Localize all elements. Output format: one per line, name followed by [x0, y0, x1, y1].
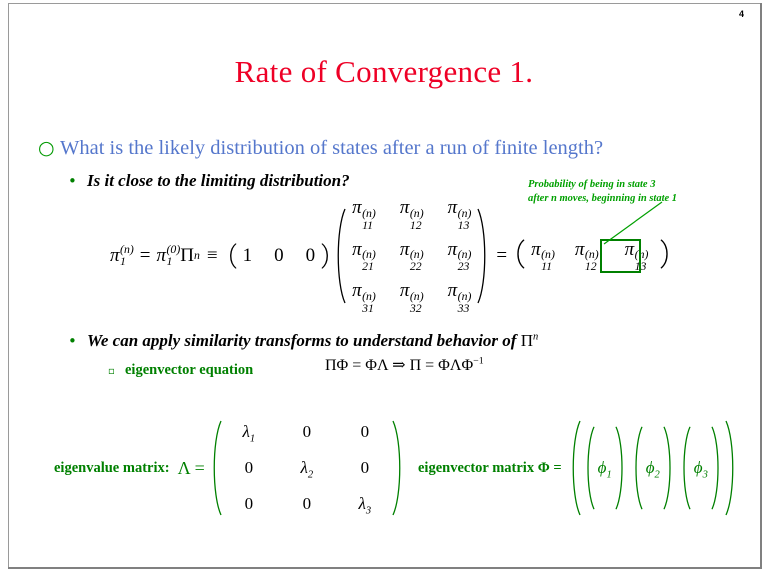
- similarity-equation-text: ΠΦ = ΦΛ ⇒ Π = ΦΛΦ: [325, 357, 473, 374]
- pi-lhs-indices: (n)1: [120, 244, 134, 268]
- paren-left-eigenvector-outer: [568, 420, 581, 516]
- paren-left-phi2: [630, 426, 643, 510]
- paren-left-phi3: [678, 426, 691, 510]
- bullet-level2-similarity-label: We can apply similarity transforms to un…: [87, 331, 538, 351]
- circle-outline-bullet-icon: ○: [38, 139, 60, 158]
- eigenvalue-cell: 0: [245, 494, 254, 514]
- paren-left-rowvec: [225, 243, 238, 269]
- pi-symbol: π: [110, 245, 120, 267]
- dot-bullet-icon: •: [68, 174, 87, 189]
- matrix-cell: π(n)32: [400, 280, 424, 315]
- result-row-vector: π(n)11 π(n)12 π(n)13: [513, 239, 672, 274]
- pi-symbol: π: [531, 239, 541, 260]
- eigenvector-matrix-label: eigenvector matrix Φ =: [418, 460, 562, 477]
- matrix-cell-indices: (n)22: [410, 249, 424, 273]
- pi-symbol: π: [352, 197, 362, 218]
- similarity-equation-exponent: −1: [473, 356, 484, 367]
- result-cell-indices: (n)12: [585, 249, 599, 273]
- paren-right-phi1: [615, 426, 628, 510]
- main-equation: π(n)1 = π(0)1Πn ≡ 1 0 0 π(n): [110, 208, 672, 304]
- similarity-text: We can apply similarity transforms to un…: [87, 331, 521, 350]
- matrix-cell-indices: (n)21: [362, 249, 376, 273]
- matrix-cell-indices: (n)11: [362, 208, 376, 232]
- pi-symbol: π: [400, 280, 410, 301]
- result-cell: π(n)11: [531, 239, 555, 274]
- slide-number: 4: [739, 9, 744, 19]
- equiv-sign: ≡: [200, 245, 225, 267]
- paren-right-eigenvector-outer: [725, 420, 738, 516]
- probability-annotation-line2: after n moves, beginning in state 1: [528, 192, 677, 206]
- probability-annotation-line1: Probability of being in state 3: [528, 178, 677, 192]
- bullet-level3-eigenvector-equation: ▫ eigenvector equation: [108, 362, 253, 379]
- bullet-level3-label: eigenvector equation: [125, 362, 253, 379]
- paren-right-rowvec: [320, 243, 333, 269]
- row-vector-initial-state: 1 0 0: [225, 243, 334, 269]
- result-cell-indices: (n)11: [541, 249, 555, 273]
- matrix-cell-indices: (n)31: [362, 291, 376, 315]
- row-vector-cell: 0: [274, 245, 284, 267]
- pi-symbol: π: [352, 280, 362, 301]
- paren-left-result: [513, 239, 526, 269]
- eigenvalue-cell: λ1: [243, 422, 256, 442]
- matrix-cell: π(n)22: [400, 239, 424, 274]
- highlight-box-pi13: [600, 239, 641, 273]
- matrix-cell: π(n)11: [352, 197, 376, 232]
- matrix-cell-indices: (n)32: [410, 291, 424, 315]
- pi-symbol: π: [400, 197, 410, 218]
- column-vector-phi2: ϕ2: [630, 426, 676, 510]
- eigenvector-column: ϕ2: [629, 420, 677, 516]
- matrix-cell: π(n)33: [448, 280, 472, 315]
- eigenvalue-cell: 0: [303, 422, 312, 442]
- eigenvalue-cell: 0: [245, 458, 254, 478]
- paren-right-eigenvalue: [392, 420, 405, 516]
- eigenvalue-matrix: λ1 0 0 0 λ2 0 0 0 λ3: [209, 420, 405, 516]
- pi-symbol: π: [448, 197, 458, 218]
- equals-sign-2: =: [490, 245, 513, 267]
- page-title: Rate of Convergence 1.: [0, 54, 768, 90]
- row-vector-cell: 1: [243, 245, 253, 267]
- bullet-level1-label: What is the likely distribution of state…: [60, 137, 603, 160]
- probability-annotation: Probability of being in state 3 after n …: [528, 178, 677, 206]
- eigenvalue-matrix-label: eigenvalue matrix:: [54, 460, 170, 477]
- column-vector-phi3: ϕ3: [678, 426, 724, 510]
- pi-lhs-sub: 1: [120, 256, 134, 268]
- paren-right-phi3: [711, 426, 724, 510]
- eigenvector-matrix-block: eigenvector matrix Φ = ϕ1: [418, 420, 738, 516]
- pi-term2-indices: (0)1: [167, 244, 181, 268]
- transition-matrix: π(n)11 π(n)12 π(n)13 π(n)21 π(n)22 π(n)2…: [333, 208, 490, 304]
- pi-symbol: π: [400, 239, 410, 260]
- pi-symbol: π: [448, 280, 458, 301]
- matrix-cell-indices: (n)23: [458, 249, 472, 273]
- paren-left-eigenvalue: [209, 420, 222, 516]
- eigenvalue-cell: 0: [361, 458, 370, 478]
- eigenvalue-cell: 0: [303, 494, 312, 514]
- bullet-level2-limiting: • Is it close to the limiting distributi…: [68, 171, 350, 191]
- phi-cell: ϕ1: [595, 458, 615, 478]
- eigenvalue-cell: λ3: [359, 494, 372, 514]
- capital-pi-symbol: Π: [521, 331, 533, 350]
- eigenvector-column: ϕ3: [677, 420, 725, 516]
- paren-right-phi2: [663, 426, 676, 510]
- row-vector-cell: 0: [306, 245, 316, 267]
- pi-symbol: π: [575, 239, 585, 260]
- equals-sign-1: =: [134, 245, 157, 267]
- matrix-cell-indices: (n)33: [458, 291, 472, 315]
- matrix-cell-indices: (n)13: [458, 208, 472, 232]
- pi-term2-sub: 1: [167, 256, 181, 268]
- matrix-cell-indices: (n)12: [410, 208, 424, 232]
- bullet-level1-distribution: ○ What is the likely distribution of sta…: [38, 137, 603, 160]
- paren-right-matrix: [477, 208, 490, 304]
- result-cell: π(n)12: [575, 239, 599, 274]
- matrix-cell: π(n)13: [448, 197, 472, 232]
- eigenvalue-cell: 0: [361, 422, 370, 442]
- bullet-level2-similarity: • We can apply similarity transforms to …: [68, 331, 538, 351]
- matrix-cell: π(n)21: [352, 239, 376, 274]
- column-vector-phi1: ϕ1: [582, 426, 628, 510]
- phi-cell: ϕ3: [691, 458, 711, 478]
- matrix-cell: π(n)23: [448, 239, 472, 274]
- eigenvalue-matrix-block: eigenvalue matrix: Λ = λ1 0 0 0 λ2 0 0 0…: [54, 420, 405, 516]
- dot-bullet-icon: •: [68, 334, 87, 349]
- eigenvalue-cell: λ2: [301, 458, 314, 478]
- pi-symbol: π: [448, 239, 458, 260]
- pi-symbol-2: π: [156, 245, 166, 267]
- lambda-equals: Λ =: [178, 458, 205, 479]
- paren-right-result: [659, 239, 672, 269]
- phi-cell: ϕ2: [643, 458, 663, 478]
- capital-pi-exponent: n: [533, 331, 538, 342]
- slide: 4 Rate of Convergence 1. ○ What is the l…: [0, 0, 768, 576]
- matrix-cell: π(n)31: [352, 280, 376, 315]
- equation-lhs: π(n)1 = π(0)1Πn ≡: [110, 244, 225, 268]
- square-bullet-icon: ▫: [108, 367, 125, 377]
- capital-pi-symbol: Π: [180, 245, 194, 267]
- paren-left-phi1: [582, 426, 595, 510]
- eigenvector-column: ϕ1: [581, 420, 629, 516]
- bullet-level2-limiting-label: Is it close to the limiting distribution…: [87, 171, 350, 191]
- matrix-cell: π(n)12: [400, 197, 424, 232]
- similarity-equation: ΠΦ = ΦΛ ⇒ Π = ΦΛΦ−1: [325, 355, 484, 375]
- eigenvector-matrix: ϕ1 ϕ2: [568, 420, 738, 516]
- pi-symbol: π: [352, 239, 362, 260]
- paren-left-matrix: [333, 208, 346, 304]
